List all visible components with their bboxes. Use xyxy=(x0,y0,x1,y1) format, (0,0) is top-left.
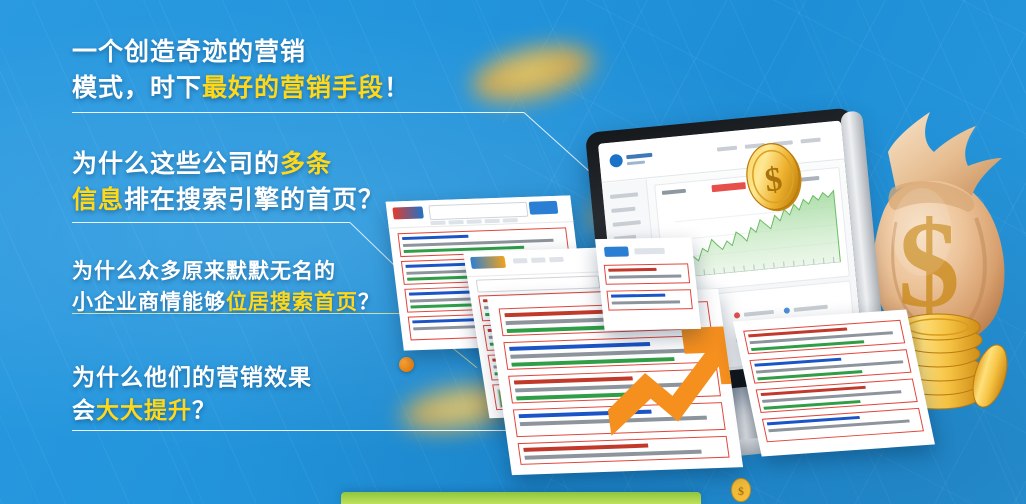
serp-page-0 xyxy=(595,237,701,330)
serp-0-r1-title[interactable] xyxy=(608,268,656,272)
serp-2-tab-3[interactable] xyxy=(549,257,564,262)
serp-0-button[interactable] xyxy=(604,246,629,256)
serp-4-result-box-2 xyxy=(749,349,911,383)
copy-block-2-highlight-1: 多条 xyxy=(280,150,332,178)
serp-4-result-box-3 xyxy=(756,378,918,412)
serp-0-result-box-2 xyxy=(606,289,692,310)
copy-block-4-line-2-plain: 会 xyxy=(72,397,96,423)
coin-dollar-label: $ xyxy=(738,484,744,498)
copy-block-1-line-2: 模式，时下最好的营销手段！ xyxy=(72,70,410,106)
marketing-banner: 一个创造奇迹的营销 模式，时下最好的营销手段！ 为什么这些公司的多条 信息排在搜… xyxy=(0,0,1026,504)
copy-block-1: 一个创造奇迹的营销 模式，时下最好的营销手段！ xyxy=(72,34,410,106)
floating-coin-large-svg: $ xyxy=(741,136,812,216)
donut-legend-dot-2 xyxy=(784,307,791,314)
copy-block-1-tail: ！ xyxy=(384,74,410,102)
copy-block-4-tail: ？ xyxy=(192,397,216,423)
copy-block-2-line-2-plain: 排在搜索引擎的首页？ xyxy=(124,186,384,214)
serp-2-search-input[interactable] xyxy=(476,275,601,292)
connector-1-horizontal xyxy=(72,112,524,113)
connector-1 xyxy=(72,112,632,113)
copy-block-3: 为什么众多原来默默无名的 小企业商情能够位居搜索首页？ xyxy=(72,256,380,318)
serp-0-result-box-1 xyxy=(604,263,690,284)
serp-page-4 xyxy=(733,309,935,456)
connector-2-horizontal xyxy=(72,222,350,223)
copy-block-3-highlight: 位居搜索首页 xyxy=(226,291,358,314)
connector-dot-3 xyxy=(399,357,414,372)
connector-3-horizontal xyxy=(72,313,410,314)
serp-1-tab-1[interactable] xyxy=(430,221,446,225)
serp-1-tab-4[interactable] xyxy=(484,219,500,223)
chart-panel-title xyxy=(662,189,686,195)
copy-block-3-tail: ？ xyxy=(358,291,380,314)
copy-block-1-line-1: 一个创造奇迹的营销 xyxy=(72,34,410,70)
copy-block-4-line-1: 为什么他们的营销效果 xyxy=(72,361,312,394)
serp-1-logo-icon xyxy=(392,206,424,219)
floating-coin-small: $ xyxy=(730,478,752,502)
copy-block-2-line-1: 为什么这些公司的多条 xyxy=(72,146,384,182)
serp-0-r2-snip xyxy=(612,300,681,304)
copy-block-1-line-2-plain: 模式，时下 xyxy=(72,74,202,102)
copy-block-4-highlight: 大大提升 xyxy=(96,397,192,423)
serp-2-tab-1[interactable] xyxy=(513,258,528,263)
serp-3-r5-snip-1 xyxy=(524,450,701,460)
serp-1-tab-3[interactable] xyxy=(466,219,482,223)
serp-4-result-box-4 xyxy=(762,408,924,442)
serp-1-search-button[interactable] xyxy=(529,201,559,215)
chart-panel-tag-red xyxy=(711,182,746,192)
connector-4-horizontal xyxy=(72,430,580,431)
serp-0-r1-snip xyxy=(609,274,682,278)
serp-1-tab-5[interactable] xyxy=(502,218,518,222)
copy-block-4-line-2: 会大大提升？ xyxy=(72,394,312,427)
serp-1-r1-snip-1 xyxy=(403,239,554,247)
copy-block-2-highlight-2: 信息 xyxy=(72,186,124,214)
donut-legend-label-1 xyxy=(744,310,774,317)
copy-block-3-line-2-plain: 小企业商情能够 xyxy=(72,291,226,314)
serp-1-r1-title[interactable] xyxy=(402,235,469,240)
copy-block-2-line-2: 信息排在搜索引擎的首页？ xyxy=(72,182,384,218)
serp-2-logo-icon xyxy=(470,256,506,269)
donut-legend-label-2 xyxy=(794,305,828,312)
serp-0-tab[interactable] xyxy=(634,248,665,254)
donut-legend-dot-1 xyxy=(734,312,741,319)
copy-block-2-line-1-plain: 为什么这些公司的 xyxy=(72,150,280,178)
serp-0-r2-title[interactable] xyxy=(611,294,666,298)
serp-4-result-box-1 xyxy=(743,320,905,354)
copy-block-3-line-1: 为什么众多原来默默无名的 xyxy=(72,256,380,287)
floating-coin-small-svg: $ xyxy=(730,478,752,502)
floating-coin-large: $ xyxy=(741,136,812,216)
copy-block-1-highlight: 最好的营销手段 xyxy=(202,74,384,102)
bottom-green-bar xyxy=(341,492,701,504)
copy-block-2: 为什么这些公司的多条 信息排在搜索引擎的首页？ xyxy=(72,146,384,218)
serp-2-tab-2[interactable] xyxy=(531,257,546,262)
serp-1-tab-2[interactable] xyxy=(448,220,464,224)
copy-block-4: 为什么他们的营销效果 会大大提升？ xyxy=(72,361,312,427)
